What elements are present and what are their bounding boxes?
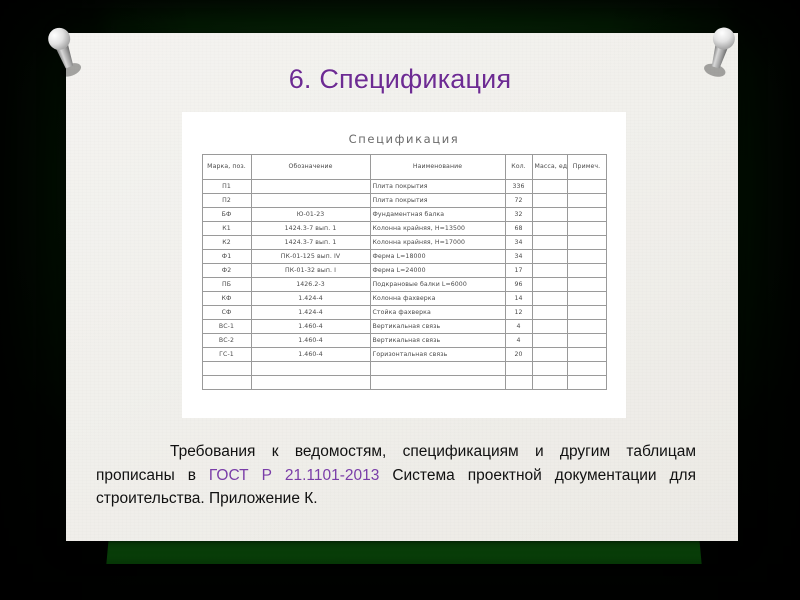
table-row: ВС-11.460-4Вертикальная связь4: [202, 320, 606, 334]
cell-name: Вертикальная связь: [370, 320, 505, 334]
body-paragraph: Требования к ведомостям, спецификациям и…: [96, 440, 696, 511]
cell-mark: П2: [202, 194, 251, 208]
cell-mark: ПБ: [202, 278, 251, 292]
cell-designation: 1.424-4: [251, 292, 370, 306]
cell-mark: [202, 376, 251, 390]
cell-mark: Ф1: [202, 250, 251, 264]
cell-note: [567, 376, 606, 390]
cell-note: [567, 264, 606, 278]
cell-designation: 1.460-4: [251, 320, 370, 334]
column-header-quantity: Кол.: [505, 155, 532, 180]
slide-title: 6. Спецификация: [0, 64, 800, 95]
cell-mass: [532, 320, 567, 334]
cell-designation: Ю-01-23: [251, 208, 370, 222]
cell-name: Горизонтальная связь: [370, 348, 505, 362]
table-row: [202, 362, 606, 376]
cell-quantity: 336: [505, 180, 532, 194]
cell-mass: [532, 264, 567, 278]
table-row: П2Плита покрытия72: [202, 194, 606, 208]
presentation-slide: 6. Спецификация Спецификация Марка, поз.…: [0, 0, 800, 600]
cell-name: [370, 376, 505, 390]
cell-note: [567, 292, 606, 306]
cell-designation: 1.424-4: [251, 306, 370, 320]
cell-name: Вертикальная связь: [370, 334, 505, 348]
cell-mass: [532, 362, 567, 376]
cell-quantity: 17: [505, 264, 532, 278]
cell-quantity: 32: [505, 208, 532, 222]
cell-name: Ферма L=24000: [370, 264, 505, 278]
cell-mark: СФ: [202, 306, 251, 320]
table-row: ВС-21.460-4Вертикальная связь4: [202, 334, 606, 348]
cell-note: [567, 194, 606, 208]
cell-note: [567, 236, 606, 250]
cell-mass: [532, 334, 567, 348]
cell-mark: КФ: [202, 292, 251, 306]
table-body: П1Плита покрытия336П2Плита покрытия72БФЮ…: [202, 180, 606, 390]
cell-note: [567, 222, 606, 236]
table-row: Ф1ПК-01-125 вып. IVФерма L=1800034: [202, 250, 606, 264]
cell-quantity: 34: [505, 250, 532, 264]
table-header: Марка, поз. Обозначение Наименование Кол…: [202, 155, 606, 180]
cell-quantity: 4: [505, 320, 532, 334]
cell-designation: [251, 180, 370, 194]
cell-note: [567, 250, 606, 264]
table-row: Ф2ПК-01-32 вып. IФерма L=2400017: [202, 264, 606, 278]
cell-mass: [532, 292, 567, 306]
cell-mass: [532, 278, 567, 292]
specification-table: Марка, поз. Обозначение Наименование Кол…: [202, 154, 607, 390]
cell-mark: К2: [202, 236, 251, 250]
table-row: СФ1.424-4Стойка фахверка12: [202, 306, 606, 320]
table-row: КФ1.424-4Колонна фахверка14: [202, 292, 606, 306]
specification-table-image: Спецификация Марка, поз. Обозначение Наи…: [182, 112, 626, 418]
cell-note: [567, 320, 606, 334]
cell-mass: [532, 376, 567, 390]
cell-mass: [532, 236, 567, 250]
cell-designation: 1424.3-7 вып. 1: [251, 222, 370, 236]
cell-name: Фундаментная балка: [370, 208, 505, 222]
cell-mass: [532, 306, 567, 320]
cell-quantity: [505, 362, 532, 376]
column-header-designation: Обозначение: [251, 155, 370, 180]
cell-name: Подкрановые балки L=6000: [370, 278, 505, 292]
cell-mark: ВС-1: [202, 320, 251, 334]
cell-quantity: 72: [505, 194, 532, 208]
cell-mass: [532, 180, 567, 194]
gost-reference: ГОСТ Р 21.1101-2013: [209, 467, 379, 484]
cell-mass: [532, 250, 567, 264]
cell-mark: П1: [202, 180, 251, 194]
table-row: К21424.3-7 вып. 1Колонна крайняя, H=1700…: [202, 236, 606, 250]
cell-quantity: [505, 376, 532, 390]
cell-designation: ПК-01-125 вып. IV: [251, 250, 370, 264]
cell-name: Колонна фахверка: [370, 292, 505, 306]
cell-quantity: 20: [505, 348, 532, 362]
cell-quantity: 12: [505, 306, 532, 320]
table-header-row: Марка, поз. Обозначение Наименование Кол…: [202, 155, 606, 180]
cell-name: [370, 362, 505, 376]
cell-note: [567, 362, 606, 376]
table-row: ГС-11.460-4Горизонтальная связь20: [202, 348, 606, 362]
cell-note: [567, 334, 606, 348]
table-row: [202, 376, 606, 390]
cell-quantity: 96: [505, 278, 532, 292]
cell-name: Плита покрытия: [370, 180, 505, 194]
column-header-name: Наименование: [370, 155, 505, 180]
cell-mark: К1: [202, 222, 251, 236]
cell-mass: [532, 348, 567, 362]
column-header-mass: Масса, ед., кг: [532, 155, 567, 180]
cell-mark: ВС-2: [202, 334, 251, 348]
cell-designation: 1.460-4: [251, 348, 370, 362]
cell-designation: ПК-01-32 вып. I: [251, 264, 370, 278]
cell-designation: [251, 194, 370, 208]
cell-name: Ферма L=18000: [370, 250, 505, 264]
cell-designation: 1426.2-3: [251, 278, 370, 292]
cell-quantity: 4: [505, 334, 532, 348]
cell-note: [567, 306, 606, 320]
cell-mass: [532, 208, 567, 222]
cell-note: [567, 208, 606, 222]
cell-note: [567, 278, 606, 292]
cell-mark: ГС-1: [202, 348, 251, 362]
column-header-mark: Марка, поз.: [202, 155, 251, 180]
cell-designation: 1424.3-7 вып. 1: [251, 236, 370, 250]
cell-quantity: 68: [505, 222, 532, 236]
cell-name: Плита покрытия: [370, 194, 505, 208]
cell-quantity: 34: [505, 236, 532, 250]
table-row: БФЮ-01-23Фундаментная балка32: [202, 208, 606, 222]
cell-name: Колонна крайняя, H=17000: [370, 236, 505, 250]
cell-mark: БФ: [202, 208, 251, 222]
table-caption: Спецификация: [182, 132, 626, 146]
table-row: П1Плита покрытия336: [202, 180, 606, 194]
cell-designation: 1.460-4: [251, 334, 370, 348]
cell-mark: Ф2: [202, 264, 251, 278]
cell-designation: [251, 376, 370, 390]
cell-mark: [202, 362, 251, 376]
cell-quantity: 14: [505, 292, 532, 306]
cell-note: [567, 180, 606, 194]
cell-name: Колонна крайняя, H=13500: [370, 222, 505, 236]
cell-mass: [532, 222, 567, 236]
cell-name: Стойка фахверка: [370, 306, 505, 320]
column-header-note: Примеч.: [567, 155, 606, 180]
table-row: ПБ1426.2-3Подкрановые балки L=600096: [202, 278, 606, 292]
table-row: К11424.3-7 вып. 1Колонна крайняя, H=1350…: [202, 222, 606, 236]
cell-note: [567, 348, 606, 362]
cell-mass: [532, 194, 567, 208]
cell-designation: [251, 362, 370, 376]
